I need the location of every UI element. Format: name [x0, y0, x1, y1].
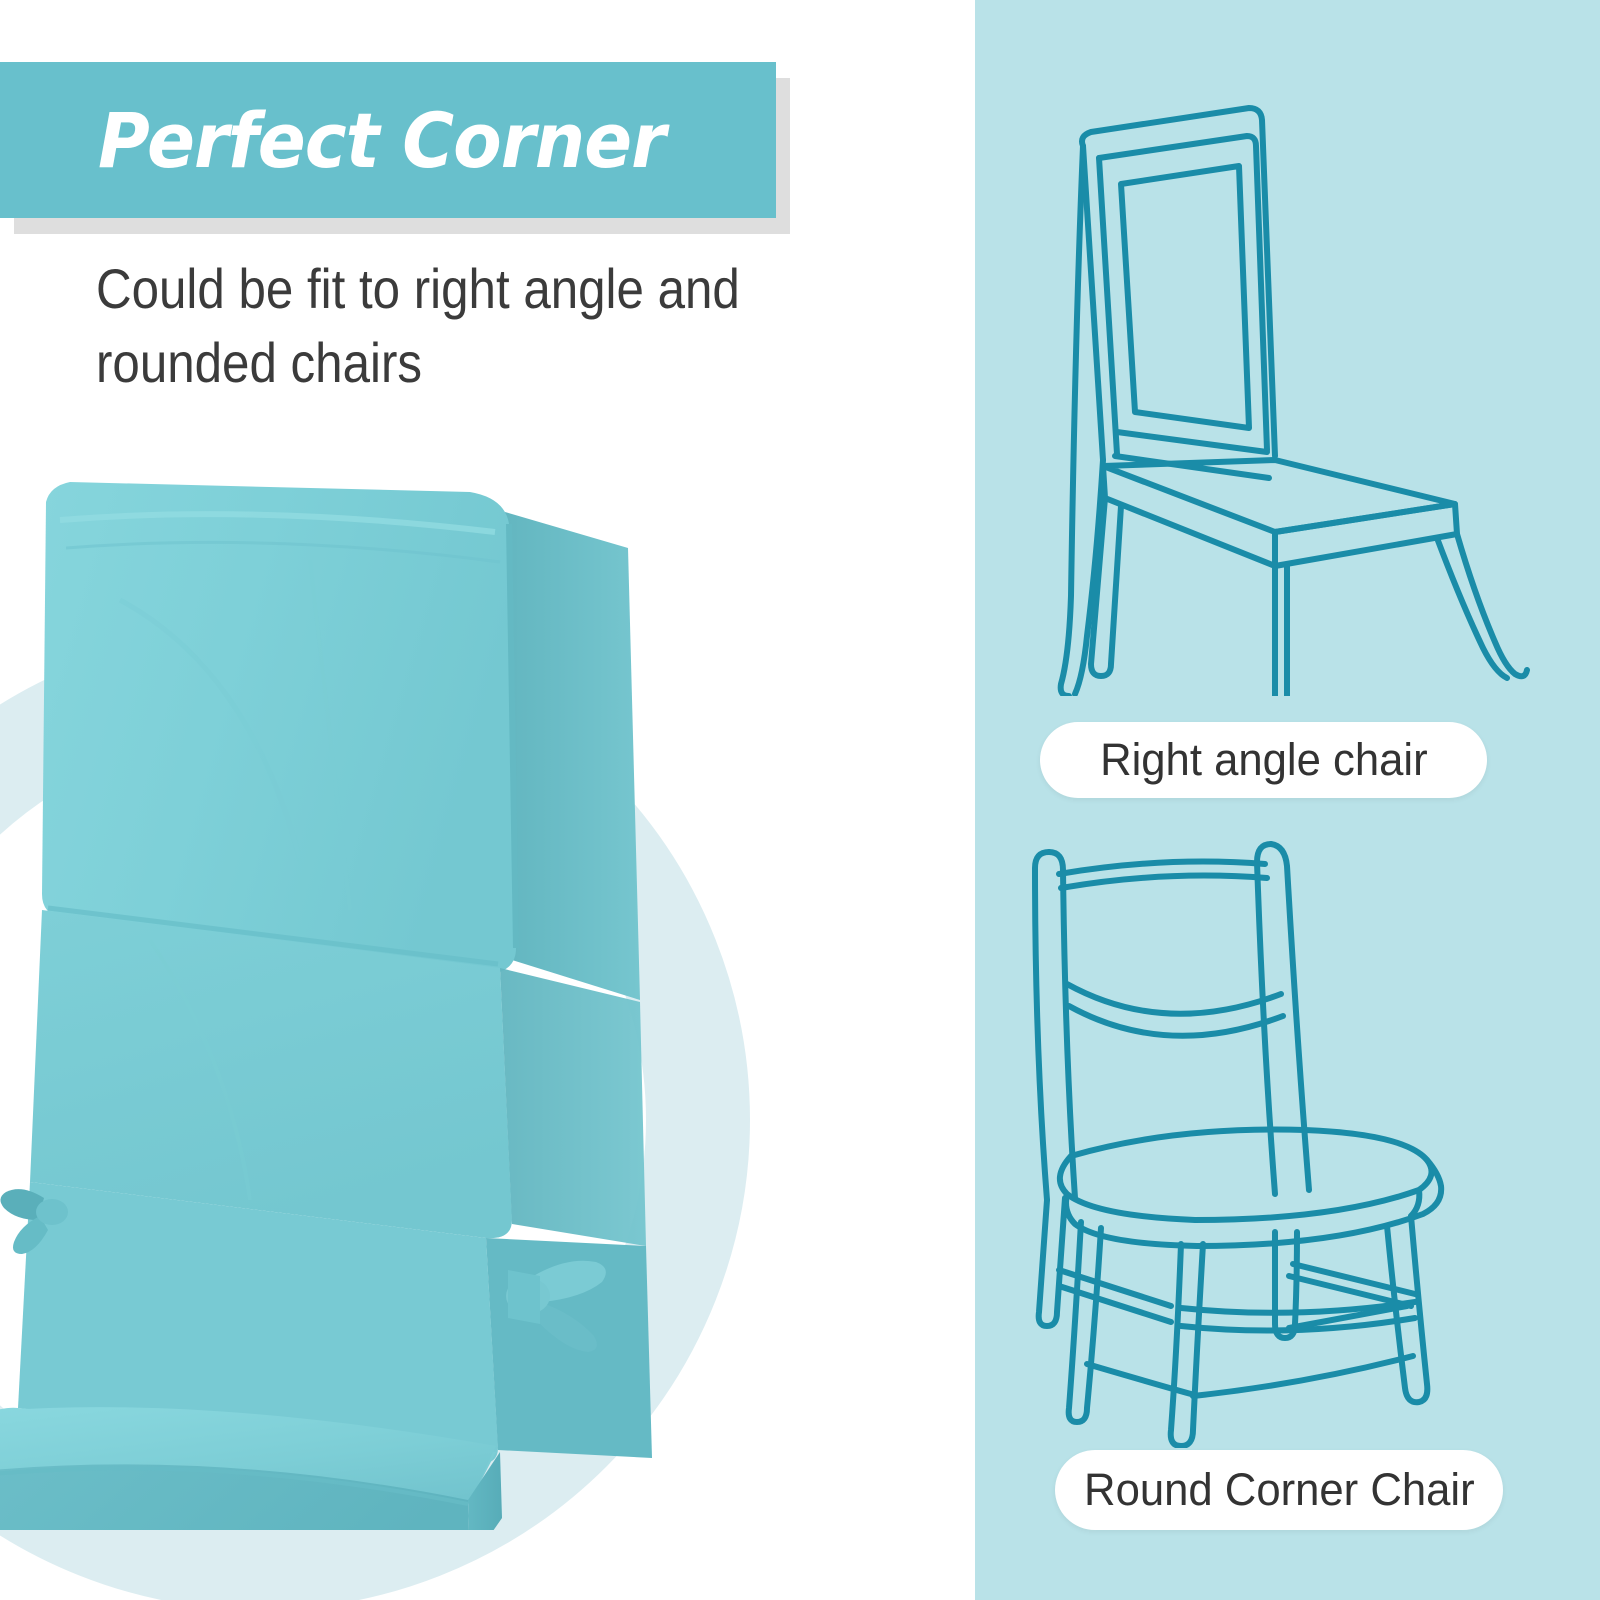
- round-corner-chair-icon: [975, 808, 1600, 1448]
- right-illustration-panel: Right angle chair: [975, 0, 1600, 1600]
- right-angle-chair-icon: [975, 36, 1600, 696]
- left-content-panel: Perfect Corner Could be fit to right ang…: [0, 0, 975, 1600]
- infographic-canvas: Perfect Corner Could be fit to right ang…: [0, 0, 1600, 1600]
- label-pill-right-angle-chair: Right angle chair: [1040, 722, 1487, 798]
- label-pill-right-angle-chair-text: Right angle chair: [1100, 734, 1428, 786]
- product-image-chair-cushion: [0, 440, 760, 1530]
- label-pill-round-corner-chair-text: Round Corner Chair: [1084, 1464, 1475, 1516]
- label-pill-round-corner-chair: Round Corner Chair: [1055, 1450, 1503, 1530]
- page-title: Perfect Corner: [98, 96, 665, 185]
- title-banner: Perfect Corner: [0, 62, 790, 234]
- title-banner-body: Perfect Corner: [0, 62, 776, 218]
- subtitle-text: Could be fit to right angle and rounded …: [96, 252, 853, 400]
